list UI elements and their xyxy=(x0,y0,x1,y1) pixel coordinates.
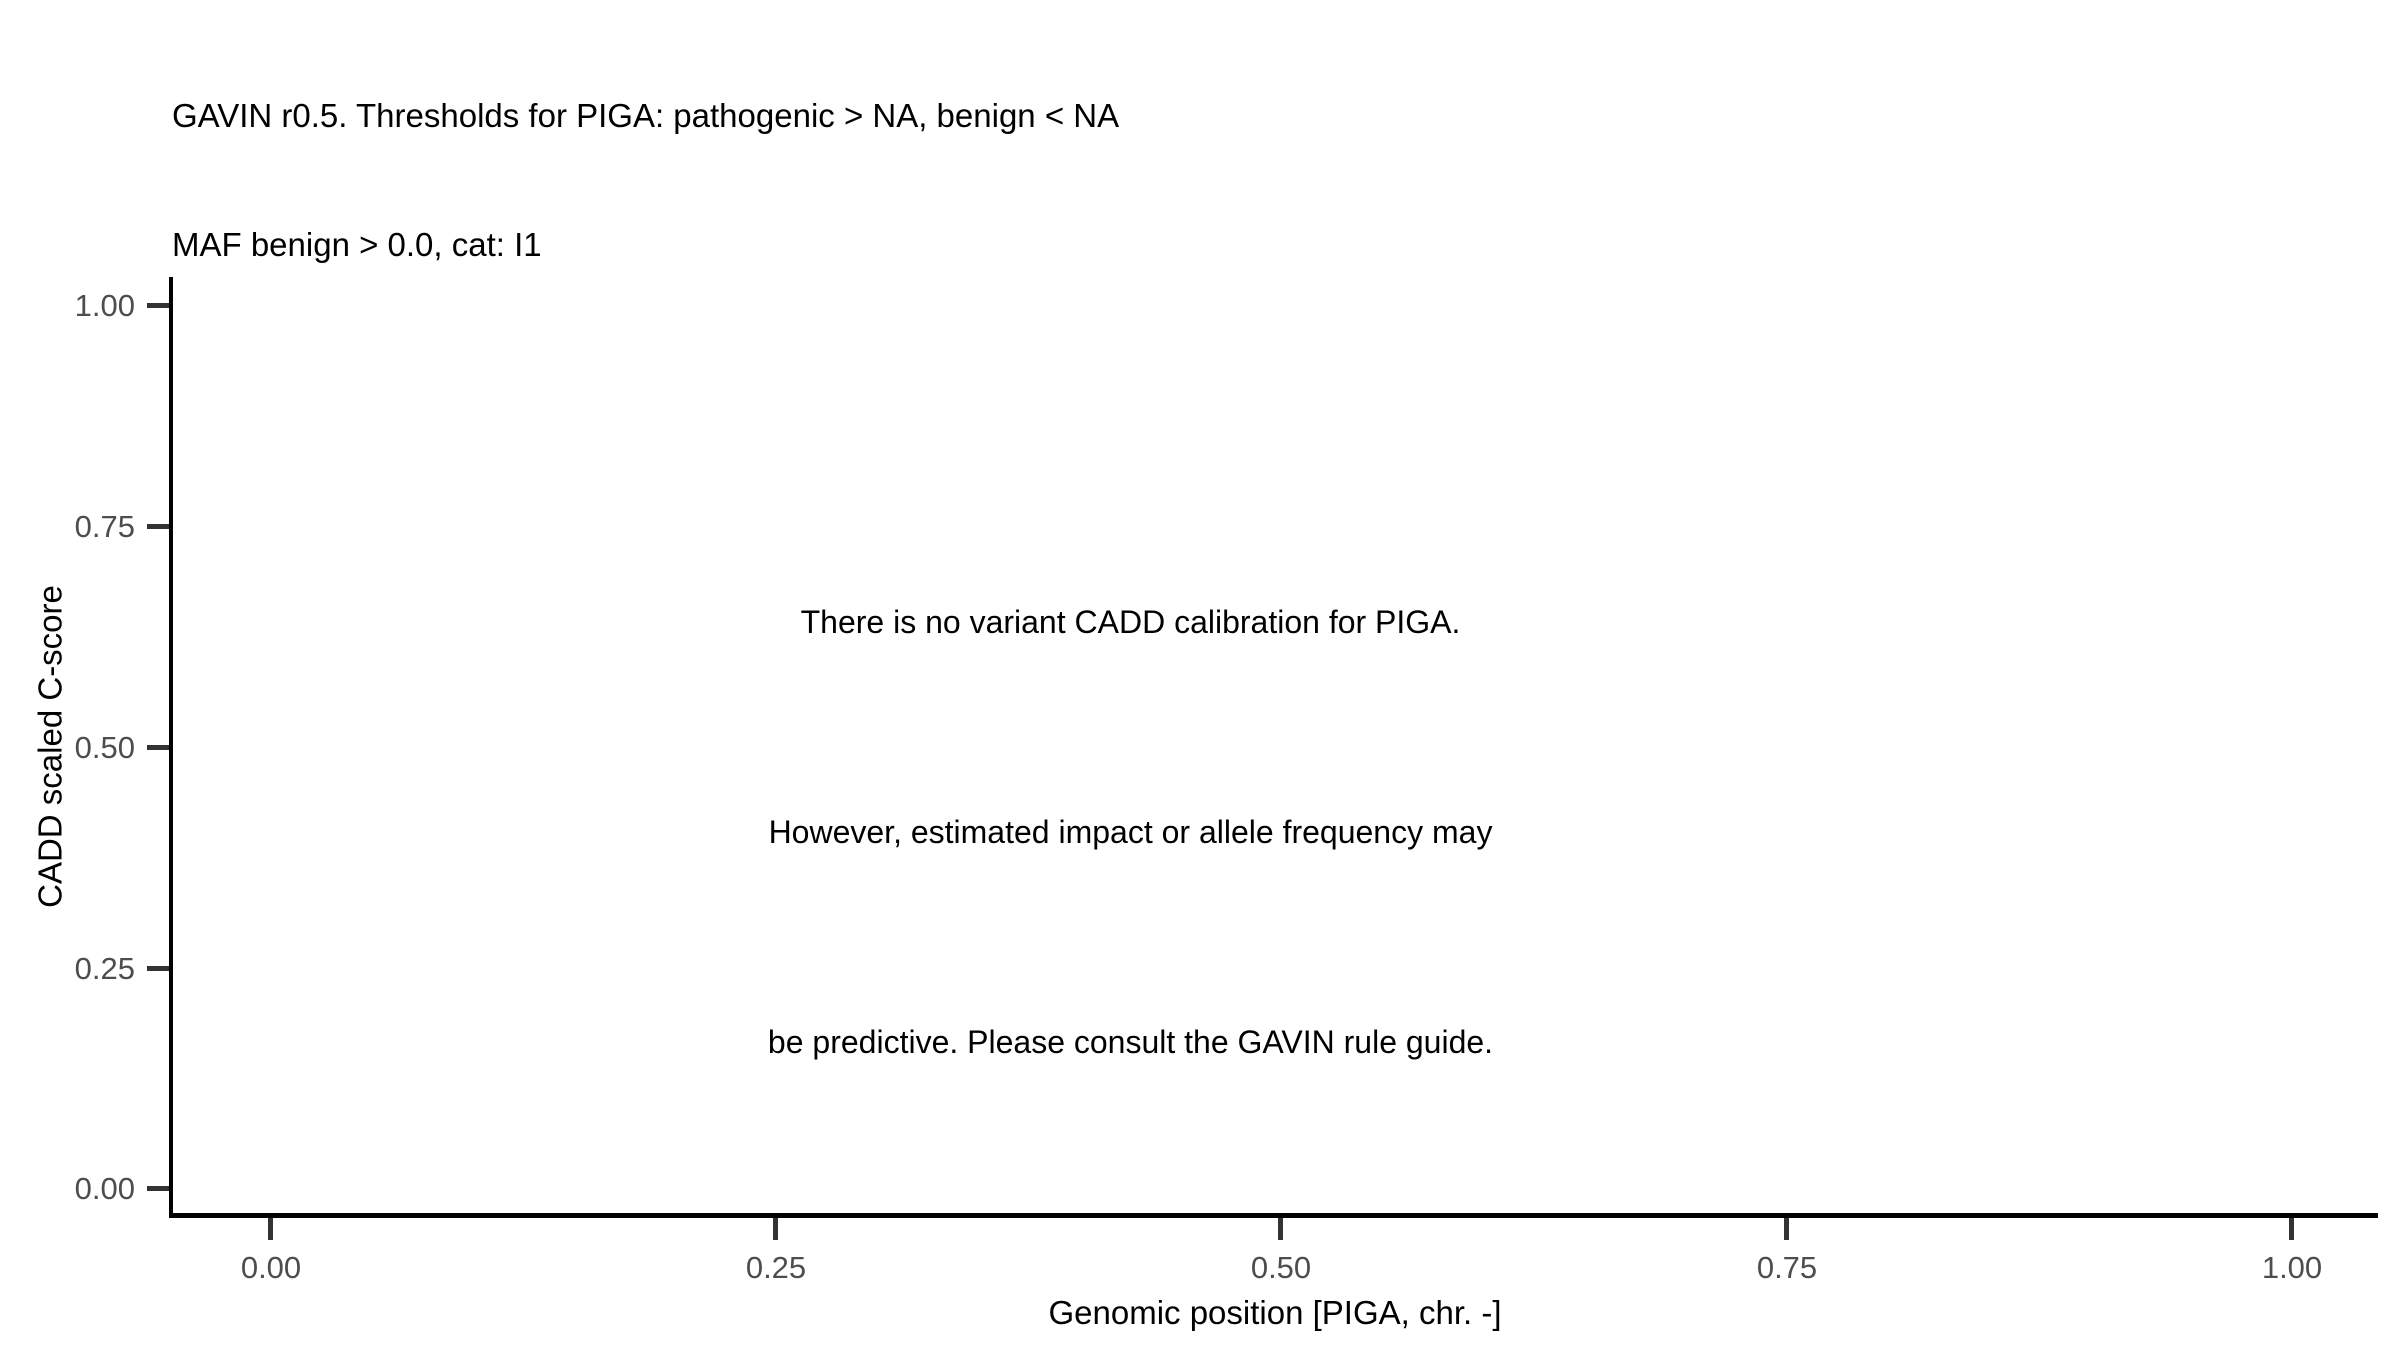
chart-title-line-2: MAF benign > 0.0, cat: I1 xyxy=(172,223,2172,266)
x-tick-mark-0.00 xyxy=(268,1218,273,1240)
y-tick-label-0.75: 0.75 xyxy=(5,511,135,542)
y-axis-line xyxy=(169,277,173,1218)
y-tick-label-0.50: 0.50 xyxy=(5,732,135,763)
y-tick-mark-0.75 xyxy=(147,524,169,529)
x-axis-label: Genomic position [PIGA, chr. -] xyxy=(172,1296,2378,1329)
x-tick-mark-0.25 xyxy=(773,1218,778,1240)
y-tick-mark-0.50 xyxy=(147,745,169,750)
no-calibration-message-line-2: However, estimated impact or allele freq… xyxy=(172,797,2089,867)
x-tick-label-0.50: 0.50 xyxy=(1181,1252,1381,1283)
x-tick-label-0.25: 0.25 xyxy=(676,1252,876,1283)
x-tick-label-1.00: 1.00 xyxy=(2192,1252,2392,1283)
plot-panel: There is no variant CADD calibration for… xyxy=(172,277,2378,1215)
y-tick-label-1.00: 1.00 xyxy=(5,290,135,321)
x-tick-mark-0.75 xyxy=(1784,1218,1789,1240)
chart-root: GAVIN r0.5. Thresholds for PIGA: pathoge… xyxy=(0,0,2400,1350)
y-axis-label: CADD scaled C-score xyxy=(34,367,67,1127)
y-tick-label-0.25: 0.25 xyxy=(5,953,135,984)
x-tick-mark-1.00 xyxy=(2289,1218,2294,1240)
y-tick-mark-1.00 xyxy=(147,303,169,308)
no-calibration-message-line-3: be predictive. Please consult the GAVIN … xyxy=(172,1007,2089,1077)
no-calibration-message-line-1: There is no variant CADD calibration for… xyxy=(172,587,2089,657)
x-tick-label-0.75: 0.75 xyxy=(1687,1252,1887,1283)
no-calibration-message: There is no variant CADD calibration for… xyxy=(172,447,2089,1217)
x-tick-mark-0.50 xyxy=(1278,1218,1283,1240)
y-tick-mark-0.25 xyxy=(147,966,169,971)
y-tick-mark-0.00 xyxy=(147,1186,169,1191)
x-axis-line xyxy=(169,1213,2378,1218)
chart-title-line-1: GAVIN r0.5. Thresholds for PIGA: pathoge… xyxy=(172,94,2172,137)
y-tick-label-0.00: 0.00 xyxy=(5,1173,135,1204)
x-tick-label-0.00: 0.00 xyxy=(171,1252,371,1283)
